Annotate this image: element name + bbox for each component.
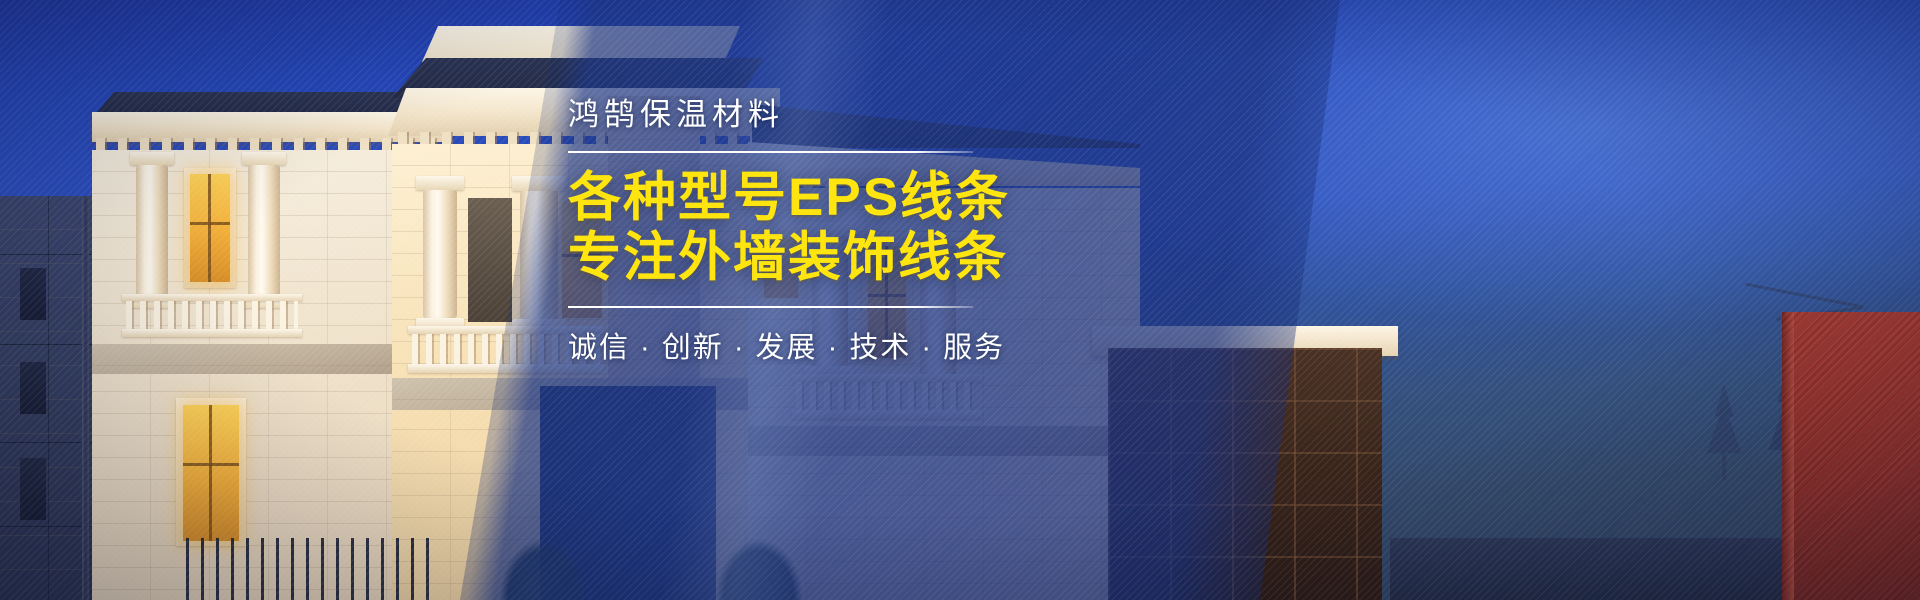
fence-rail [186,538,436,600]
banner-copy: 鸿鹄保温材料 各种型号EPS线条 专注外墙装饰线条 诚信 · 创新 · 发展 ·… [568,96,1308,366]
lit-window [190,174,230,282]
window [468,198,512,322]
divider-upper [568,151,973,153]
headline-line-2: 专注外墙装饰线条 [568,228,1308,288]
divider-lower [568,306,973,308]
lit-window [183,405,239,541]
brand-eyebrow: 鸿鹄保温材料 [568,96,1308,134]
downpipe [82,196,89,600]
hero-banner: 鸿鹄保温材料 各种型号EPS线条 专注外墙装饰线条 诚信 · 创新 · 发展 ·… [0,0,1920,600]
red-wall-panel [1782,312,1920,600]
headline-line-1: 各种型号EPS线条 [568,168,1308,228]
tagline: 诚信 · 创新 · 发展 · 技术 · 服务 [568,324,1308,366]
